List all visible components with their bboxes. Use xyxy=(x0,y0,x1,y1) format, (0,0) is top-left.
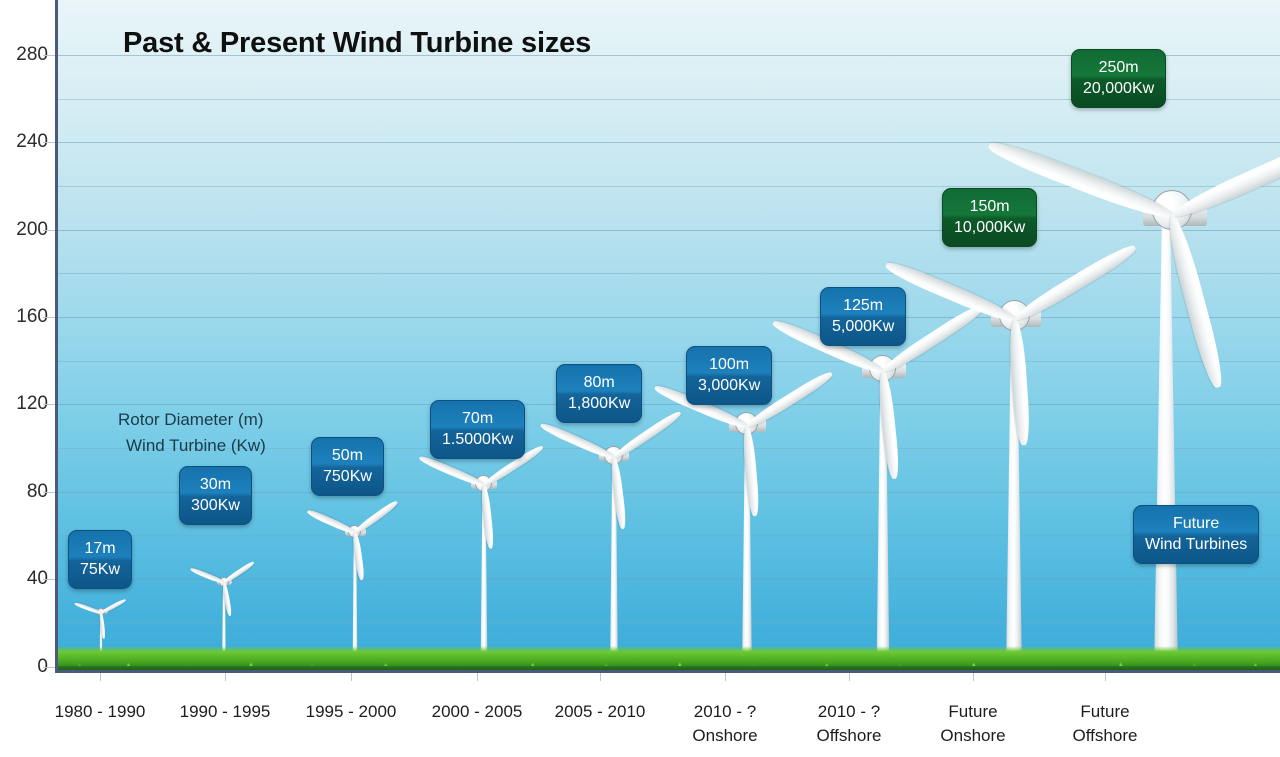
callout-diameter: 30m xyxy=(191,474,240,495)
x-axis-label-future-offshore: Future Offshore xyxy=(1030,700,1180,748)
callout-70m[interactable]: 70m 1.5000Kw xyxy=(430,400,525,459)
turbine-blade xyxy=(539,421,616,462)
x-axis-tick xyxy=(600,673,601,681)
y-axis-stub xyxy=(43,230,55,231)
x-axis-label-line-1: Future xyxy=(1030,700,1180,724)
callout-80m[interactable]: 80m 1,800Kw xyxy=(556,364,642,423)
legend-line-rotor-diameter: Rotor Diameter (m) xyxy=(118,407,266,433)
callout-50m[interactable]: 50m 750Kw xyxy=(311,437,384,496)
callout-power: 3,000Kw xyxy=(698,375,760,396)
y-axis-tick-120: 120 xyxy=(0,393,48,415)
callout-17m[interactable]: 17m 75Kw xyxy=(68,530,132,589)
callout-125m[interactable]: 125m 5,000Kw xyxy=(820,287,906,346)
x-axis-tick xyxy=(849,673,850,681)
x-axis-label-line-2: Onshore xyxy=(898,724,1048,748)
callout-diameter: 150m xyxy=(954,196,1025,217)
turbine-future-offshore xyxy=(997,130,1280,672)
callout-power: 20,000Kw xyxy=(1083,78,1154,99)
plot-area: Past & Present Wind Turbine sizes Rotor … xyxy=(55,0,1280,672)
legend: Rotor Diameter (m) Wind Turbine (Kw) xyxy=(118,407,266,459)
y-axis-tick-0: 0 xyxy=(0,656,48,678)
y-axis-tick-40: 40 xyxy=(0,568,48,590)
turbine-blade xyxy=(190,567,225,585)
y-axis-stub xyxy=(43,404,55,405)
y-axis-tick-160: 160 xyxy=(0,306,48,328)
turbine-blade xyxy=(306,508,356,536)
legend-line-wind-turbine: Wind Turbine (Kw) xyxy=(118,433,266,459)
y-axis-tick-80: 80 xyxy=(0,481,48,503)
y-axis-stub xyxy=(43,55,55,56)
future-badge-line-2: Wind Turbines xyxy=(1145,534,1247,555)
y-axis-stub xyxy=(43,317,55,318)
y-axis-stub xyxy=(43,492,55,493)
y-axis-stub xyxy=(43,579,55,580)
callout-diameter: 50m xyxy=(323,445,372,466)
turbine-blade xyxy=(100,598,127,615)
callout-power: 750Kw xyxy=(323,466,372,487)
grass-ground xyxy=(55,646,1280,672)
callout-diameter: 250m xyxy=(1083,57,1154,78)
x-axis-tick xyxy=(973,673,974,681)
callout-diameter: 17m xyxy=(80,538,120,559)
future-wind-turbines-badge[interactable]: Future Wind Turbines xyxy=(1133,505,1259,564)
callout-diameter: 80m xyxy=(568,372,630,393)
callout-power: 300Kw xyxy=(191,495,240,516)
x-axis-label-line-1: Future xyxy=(898,700,1048,724)
callout-100m[interactable]: 100m 3,000Kw xyxy=(686,346,772,405)
turbine-blade xyxy=(223,560,256,584)
x-axis-tick xyxy=(477,673,478,681)
callout-power: 1.5000Kw xyxy=(442,429,513,450)
callout-power: 75Kw xyxy=(80,559,120,580)
y-axis-tick-280: 280 xyxy=(0,44,48,66)
future-badge-line-1: Future xyxy=(1145,513,1247,534)
page-title: Past & Present Wind Turbine sizes xyxy=(123,27,591,60)
callout-power: 1,800Kw xyxy=(568,393,630,414)
y-axis-stub xyxy=(43,667,55,668)
x-axis-tick xyxy=(100,673,101,681)
turbine-blade xyxy=(1168,127,1280,224)
x-axis-tick xyxy=(225,673,226,681)
x-axis-line xyxy=(55,670,1280,673)
x-axis-tick xyxy=(351,673,352,681)
x-axis-tick xyxy=(725,673,726,681)
y-axis-tick-240: 240 xyxy=(0,131,48,153)
y-axis-line xyxy=(55,0,58,672)
x-axis-tick xyxy=(1105,673,1106,681)
x-axis-label-future-onshore: Future Onshore xyxy=(898,700,1048,748)
callout-diameter: 125m xyxy=(832,295,894,316)
callout-diameter: 100m xyxy=(698,354,760,375)
y-axis-stub xyxy=(43,142,55,143)
callout-150m[interactable]: 150m 10,000Kw xyxy=(942,188,1037,247)
wind-turbine-size-chart: Past & Present Wind Turbine sizes Rotor … xyxy=(0,0,1280,757)
callout-power: 5,000Kw xyxy=(832,316,894,337)
turbine-blade xyxy=(418,454,486,489)
callout-power: 10,000Kw xyxy=(954,217,1025,238)
callout-30m[interactable]: 30m 300Kw xyxy=(179,466,252,525)
callout-diameter: 70m xyxy=(442,408,513,429)
callout-250m[interactable]: 250m 20,000Kw xyxy=(1071,49,1166,108)
turbine-blade xyxy=(353,499,399,535)
y-axis-tick-200: 200 xyxy=(0,219,48,241)
turbine-tower xyxy=(1154,202,1178,672)
x-axis-label-line-2: Offshore xyxy=(1030,724,1180,748)
